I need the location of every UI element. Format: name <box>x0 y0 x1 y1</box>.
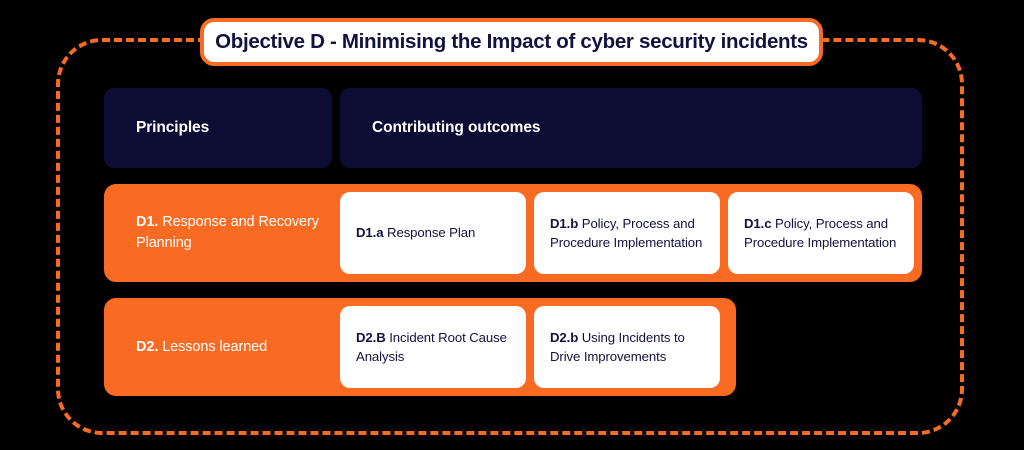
outcome-code: D1.c <box>744 216 771 231</box>
principle-text-d2: D2. Lessons learned <box>136 337 267 358</box>
header-label-contributing-outcomes: Contributing outcomes <box>372 119 540 137</box>
objective-title-pill: Objective D - Minimising the Impact of c… <box>200 18 823 66</box>
outcome-text: D1.c Policy, Process and Procedure Imple… <box>744 214 898 252</box>
outcome-code: D1.a <box>356 225 383 240</box>
table-row: D2. Lessons learned D2.B Incident Root C… <box>104 298 736 396</box>
outcome-card[interactable]: D1.b Policy, Process and Procedure Imple… <box>534 192 720 274</box>
outcome-code: D2.b <box>550 330 578 345</box>
principle-code-d2: D2. <box>136 339 158 355</box>
outcome-card[interactable]: D1.a Response Plan <box>340 192 526 274</box>
outcome-card-group-d2: D2.B Incident Root Cause Analysis D2.b U… <box>340 306 728 388</box>
outcome-code: D2.B <box>356 330 386 345</box>
outcome-desc: Response Plan <box>383 225 475 240</box>
outcome-text: D2.B Incident Root Cause Analysis <box>356 328 510 366</box>
outcome-card[interactable]: D2.B Incident Root Cause Analysis <box>340 306 526 388</box>
outcome-code: D1.b <box>550 216 578 231</box>
objective-table: Principles Contributing outcomes D1. Res… <box>104 88 922 396</box>
outcome-card[interactable]: D1.c Policy, Process and Procedure Imple… <box>728 192 914 274</box>
outcome-text: D1.a Response Plan <box>356 223 475 242</box>
principle-desc-d2: Lessons learned <box>158 339 267 355</box>
principle-label-d2: D2. Lessons learned <box>112 306 340 388</box>
principle-text-d1: D1. Response and Recovery Planning <box>136 212 326 253</box>
page-title: Objective D - Minimising the Impact of c… <box>215 30 808 54</box>
header-label-principles: Principles <box>136 119 209 137</box>
header-cell-contributing-outcomes: Contributing outcomes <box>340 88 922 168</box>
outcome-text: D1.b Policy, Process and Procedure Imple… <box>550 214 704 252</box>
table-row: D1. Response and Recovery Planning D1.a … <box>104 184 922 282</box>
header-cell-principles: Principles <box>104 88 332 168</box>
principle-desc-d1: Response and Recovery Planning <box>136 214 319 251</box>
diagram-canvas: Objective D - Minimising the Impact of c… <box>0 0 1024 450</box>
principle-code-d1: D1. <box>136 214 158 230</box>
table-header-row: Principles Contributing outcomes <box>104 88 922 168</box>
principle-label-d1: D1. Response and Recovery Planning <box>112 192 340 274</box>
outcome-card[interactable]: D2.b Using Incidents to Drive Improvemen… <box>534 306 720 388</box>
outcome-card-group-d1: D1.a Response Plan D1.b Policy, Process … <box>340 192 914 274</box>
outcome-text: D2.b Using Incidents to Drive Improvemen… <box>550 328 704 366</box>
